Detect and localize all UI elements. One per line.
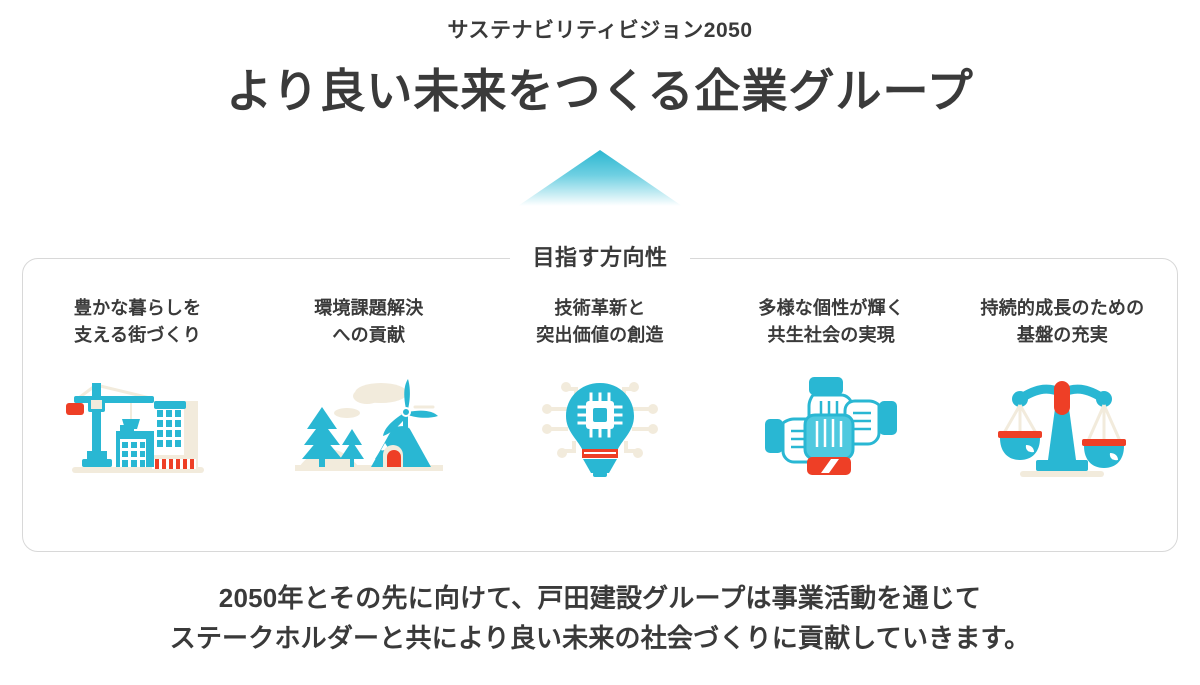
lightbulb-circuit-icon bbox=[520, 371, 680, 481]
directions-columns: 豊かな暮らしを 支える街づくり bbox=[22, 295, 1178, 545]
direction-column-1[interactable]: 豊かな暮らしを 支える街づくり bbox=[22, 295, 253, 481]
direction-column-4[interactable]: 多様な個性が輝く 共生社会の実現 bbox=[716, 295, 947, 481]
footer-text: 2050年とその先に向けて、戸田建設グループは事業活動を通じて ステークホルダー… bbox=[0, 578, 1200, 659]
direction-column-2[interactable]: 環境課題解決 への貢献 bbox=[253, 295, 484, 481]
page-title: より良い未来をつくる企業グループ bbox=[0, 64, 1200, 119]
direction-column-5[interactable]: 持続的成長のための 基盤の充実 bbox=[947, 295, 1178, 481]
up-arrow-gradient-icon bbox=[510, 147, 690, 209]
eyebrow-text: サステナビリティビジョン2050 bbox=[0, 18, 1200, 43]
direction-label-4: 多様な個性が輝く 共生社会の実現 bbox=[758, 295, 904, 349]
sustainability-vision-slide: サステナビリティビジョン2050 より良い未来をつくる企業グループ 目指す方向性… bbox=[0, 0, 1200, 685]
direction-label-3: 技術革新と 突出価値の創造 bbox=[536, 295, 663, 349]
balance-scales-icon bbox=[982, 371, 1142, 481]
direction-label-5: 持続的成長のための 基盤の充実 bbox=[981, 295, 1145, 349]
direction-column-3[interactable]: 技術革新と 突出価値の創造 bbox=[484, 295, 715, 481]
construction-crane-city-icon bbox=[58, 371, 218, 481]
direction-label-2: 環境課題解決 への貢献 bbox=[314, 295, 423, 349]
joined-hands-icon bbox=[751, 371, 911, 481]
mountain-wind-turbine-icon bbox=[289, 371, 449, 481]
direction-label-1: 豊かな暮らしを 支える街づくり bbox=[74, 295, 201, 349]
